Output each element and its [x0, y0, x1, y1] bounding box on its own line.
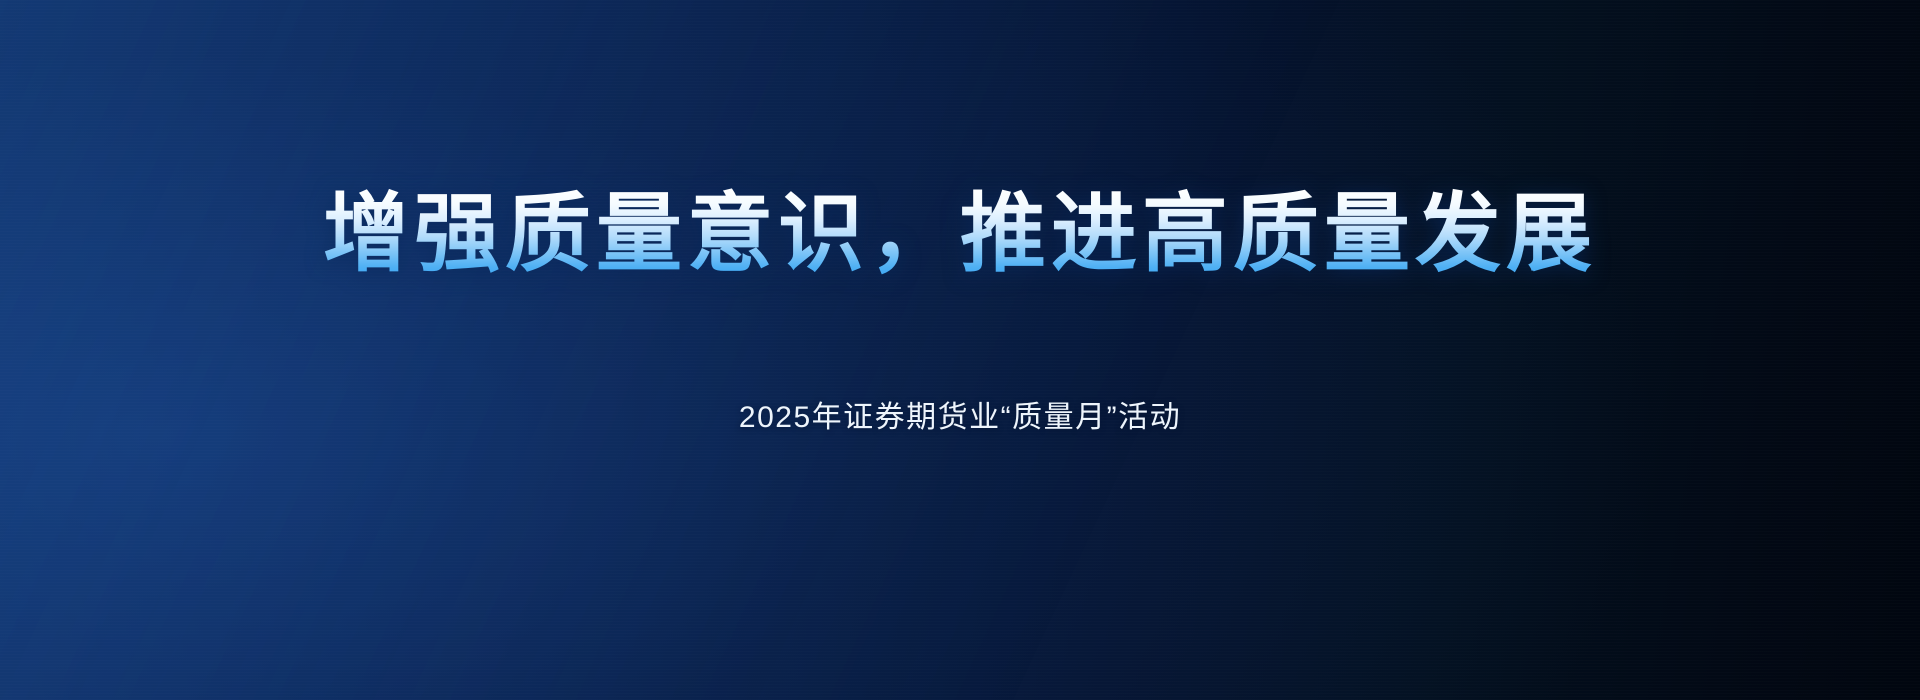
subtitle-container: 2025年证券期货业“质量月”活动	[0, 398, 1920, 454]
banner-content: 增强质量意识，推进高质量发展 2025年证券期货业“质量月”活动	[0, 0, 1920, 700]
page-title: 增强质量意识，推进高质量发展	[323, 188, 1597, 281]
page-subtitle: 2025年证券期货业“质量月”活动	[0, 398, 1920, 438]
main-title-container: 增强质量意识，推进高质量发展	[0, 188, 1920, 281]
hero-banner: 增强质量意识，推进高质量发展 2025年证券期货业“质量月”活动	[0, 0, 1920, 700]
